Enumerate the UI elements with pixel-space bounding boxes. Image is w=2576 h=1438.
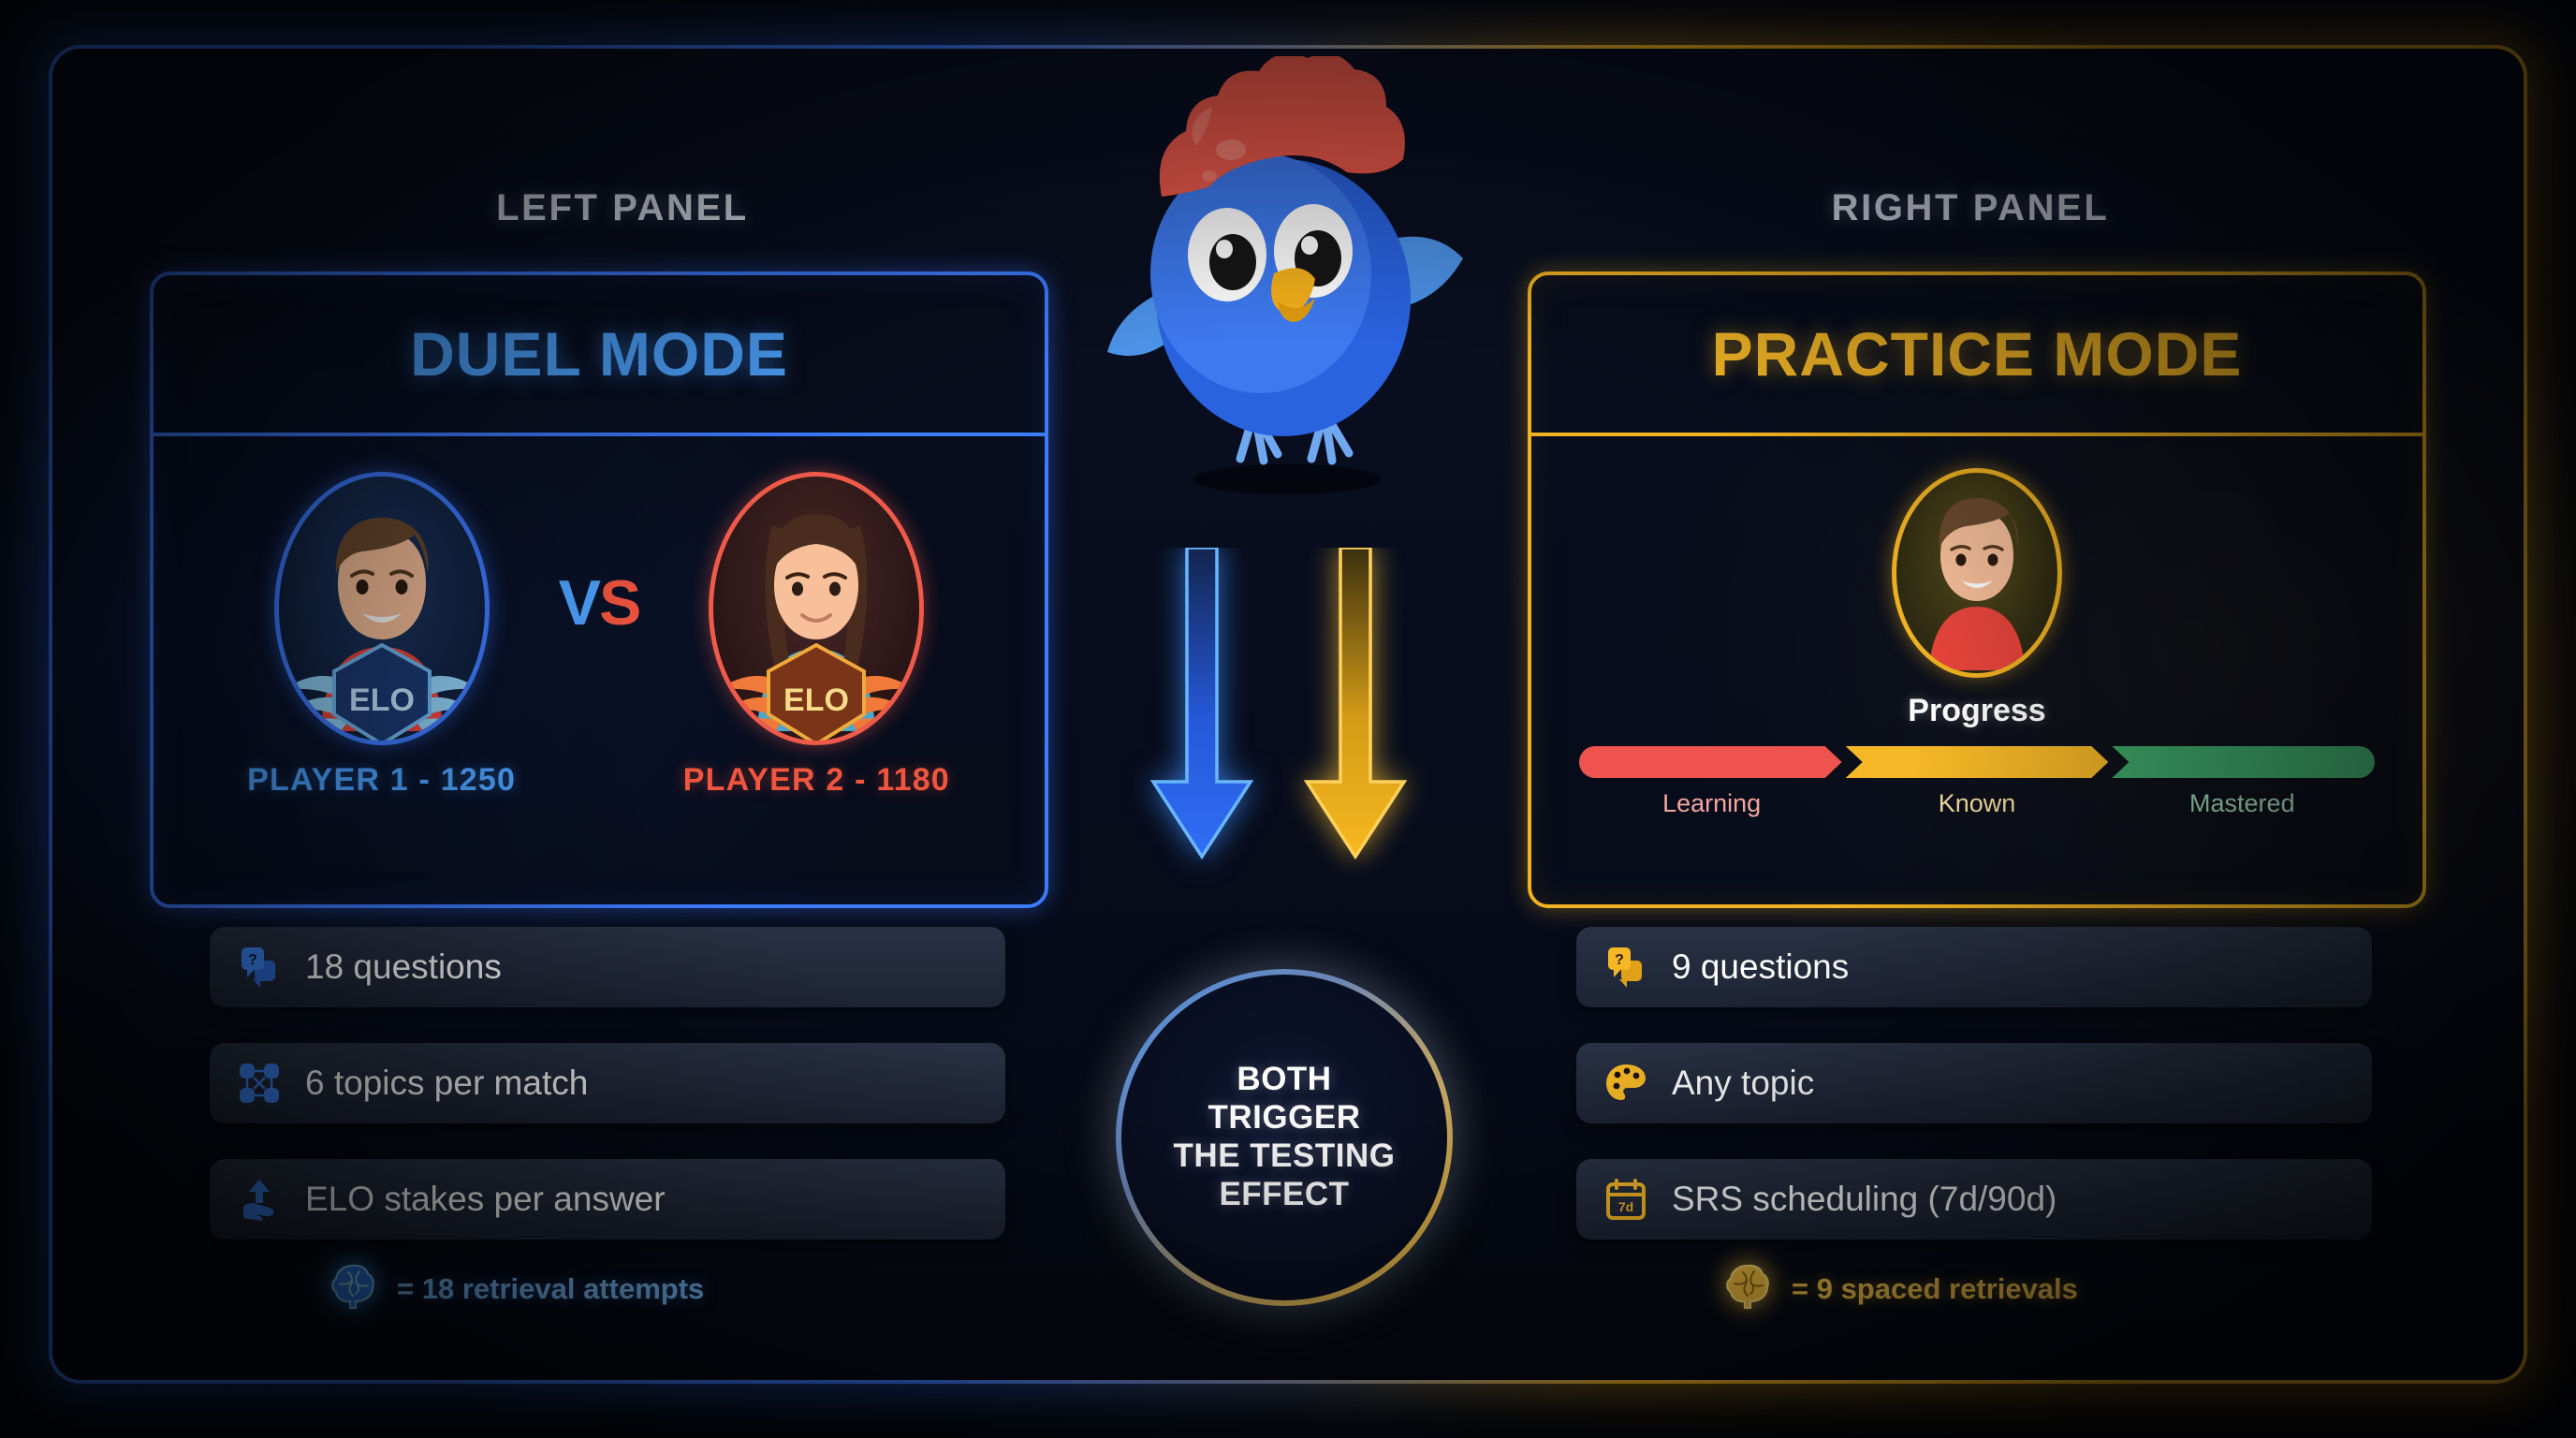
vignette-overlay	[0, 0, 2576, 1438]
